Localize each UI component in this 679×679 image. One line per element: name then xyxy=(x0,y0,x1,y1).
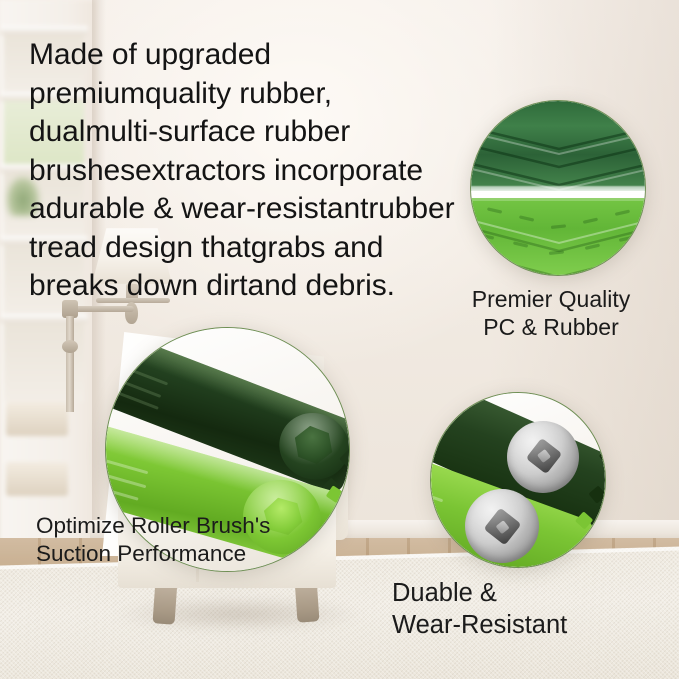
caption-durable-wear-resistant: Duable & Wear-Resistant xyxy=(392,577,632,641)
product-feature-image: Made of upgraded premiumquality rubber, … xyxy=(0,0,679,679)
inset-roller-end-caps xyxy=(430,392,606,568)
roller-end-cap xyxy=(465,489,539,563)
caption-line-1: Optimize Roller Brush's xyxy=(36,512,336,540)
caption-line-2: Wear-Resistant xyxy=(392,609,632,641)
headline-text: Made of upgraded premiumquality rubber, … xyxy=(29,36,469,306)
caption-line-1: Duable & xyxy=(392,577,632,609)
caption-premier-quality: Premier Quality PC & Rubber xyxy=(446,285,656,341)
inset-rubber-tread-closeup xyxy=(470,100,646,276)
caption-line-2: PC & Rubber xyxy=(446,313,656,341)
caption-line-1: Premier Quality xyxy=(446,285,656,313)
roller-end-cap xyxy=(507,421,579,493)
caption-optimize-suction: Optimize Roller Brush's Suction Performa… xyxy=(36,512,336,568)
caption-line-2: Suction Performance xyxy=(36,540,336,568)
